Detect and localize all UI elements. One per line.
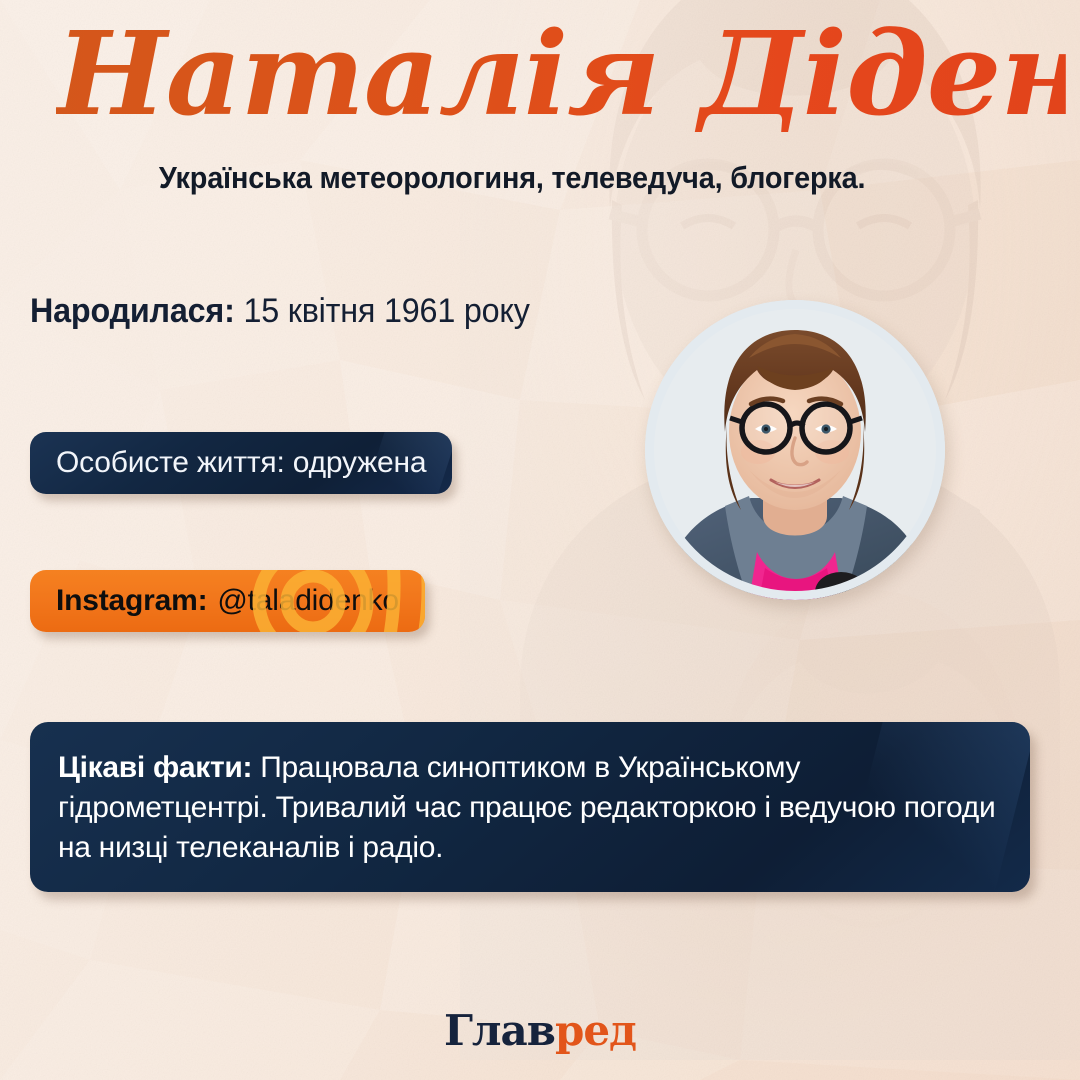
- page-subtitle: Українська метеорологиня, телеведуча, бл…: [38, 160, 1042, 196]
- personal-life-pill[interactable]: Особисте життя: одружена: [30, 432, 452, 494]
- instagram-handle[interactable]: @taladidenko: [217, 584, 399, 618]
- infographic-poster: Наталія Діденко Українська метеорологиня…: [0, 0, 1080, 1080]
- instagram-pill[interactable]: Instagram: @taladidenko: [30, 570, 425, 632]
- instagram-label: Instagram:: [56, 584, 207, 618]
- logo-part-two: ред: [555, 1006, 636, 1055]
- logo-part-one: Глав: [444, 1006, 555, 1055]
- portrait-illustration: [645, 300, 945, 600]
- birth-value: 15 квітня 1961 року: [243, 292, 529, 330]
- page-title: Наталія Діденко: [56, 14, 1066, 136]
- personal-life-text: Особисте життя: одружена: [56, 446, 426, 480]
- facts-text-wrapper: Цікаві факти: Працювала синоптиком в Укр…: [58, 748, 1000, 868]
- interesting-facts-card: Цікаві факти: Працювала синоптиком в Укр…: [30, 722, 1030, 892]
- facts-label: Цікаві факти:: [58, 751, 252, 784]
- site-logo[interactable]: Главред: [0, 1006, 1080, 1055]
- portrait-photo: [645, 300, 945, 600]
- birth-label: Народилася:: [30, 292, 235, 330]
- birth-info: Народилася: 15 квітня 1961 року: [30, 292, 530, 331]
